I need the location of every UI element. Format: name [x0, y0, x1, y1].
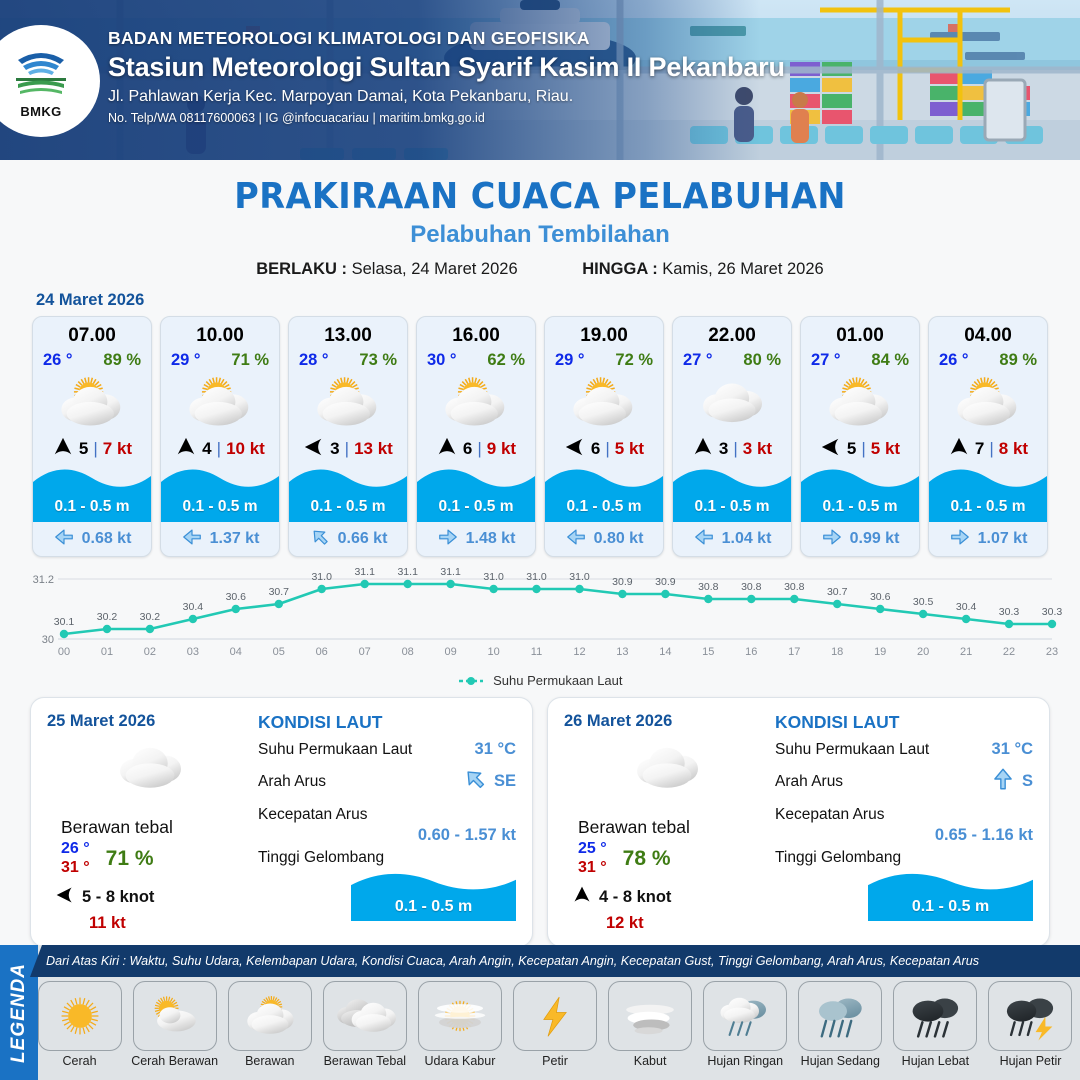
card-wind-arrow	[948, 436, 970, 463]
card-wave: 0.1 - 0.5 m	[161, 464, 279, 522]
daily-condition: Berawan tebal	[47, 817, 252, 838]
card-wind-arrow	[692, 436, 714, 463]
svg-text:23: 23	[1046, 646, 1058, 658]
svg-text:30.7: 30.7	[269, 586, 290, 598]
valid-until: HINGGA : Kamis, 26 Maret 2026	[582, 260, 823, 279]
card-humidity: 73 %	[359, 351, 397, 370]
daily-temps: 26 ° 31 ° 71 %	[47, 840, 252, 877]
partly-cloudy-glyph	[177, 373, 263, 433]
wind-direction-arrow	[572, 885, 592, 905]
card-current: 1.07 kt	[929, 522, 1047, 556]
legend-item-label: Berawan	[245, 1054, 294, 1068]
card-wave: 0.1 - 0.5 m	[33, 464, 151, 522]
wave-height-value: 0.1 - 0.5 m	[868, 898, 1033, 916]
daily-panel: 26 Maret 2026 Berawan tebal 25 ° 31 ° 78…	[547, 697, 1050, 947]
card-gust: 9 kt	[487, 439, 516, 459]
wind-direction-arrow	[948, 436, 970, 458]
card-wave-value: 0.1 - 0.5 m	[417, 498, 535, 516]
svg-text:10: 10	[487, 646, 499, 658]
wave-height-box: 0.1 - 0.5 m	[868, 869, 1033, 921]
svg-text:30.8: 30.8	[784, 581, 805, 593]
svg-text:30.9: 30.9	[655, 576, 676, 588]
daily-temp-min: 25 °	[578, 840, 607, 858]
daily-temp-max: 31 °	[61, 859, 90, 877]
svg-text:30.6: 30.6	[226, 591, 247, 603]
card-temperature: 30 °	[427, 351, 457, 370]
daily-wind: 4 - 8 knot	[564, 885, 769, 910]
legend-item-label: Cerah	[63, 1054, 97, 1068]
daily-temp-max: 31 °	[578, 859, 607, 877]
partly-cloudy-glyph	[49, 373, 135, 433]
card-wind-separator: |	[861, 439, 865, 459]
hourly-forecast-row: 07.00 26 ° 89 % 5 | 7 kt 0.1 - 0.5 m	[0, 316, 1080, 557]
bmkg-logo-text: BMKG	[20, 104, 61, 119]
current-direction-arrow	[437, 526, 459, 548]
sea-conditions-title: KONDISI LAUT	[775, 712, 1033, 733]
card-current-arrow	[821, 526, 843, 553]
svg-text:30.3: 30.3	[999, 606, 1020, 618]
card-current: 1.37 kt	[161, 522, 279, 556]
wind-direction-arrow	[692, 436, 714, 458]
daily-temps: 25 ° 31 ° 78 %	[564, 840, 769, 877]
svg-text:18: 18	[831, 646, 843, 658]
card-current-arrow	[693, 526, 715, 553]
sst-chart: 31.23030.10030.20130.20230.40330.60430.7…	[16, 567, 1064, 667]
fog-icon	[608, 981, 692, 1051]
legend-items: Cerah Cerah Berawan Berawan	[34, 981, 1076, 1068]
card-wind: 3 | 3 kt	[673, 434, 791, 464]
svg-text:31.1: 31.1	[397, 567, 418, 578]
legend-tab-label: LEGENDA	[8, 963, 30, 1063]
card-wind-arrow	[52, 436, 74, 463]
svg-text:30.1: 30.1	[54, 616, 75, 628]
card-temperature: 26 °	[43, 351, 73, 370]
card-weather-icon	[289, 372, 407, 434]
card-current-speed: 1.07 kt	[978, 530, 1028, 548]
svg-text:06: 06	[316, 646, 328, 658]
current-direction-arrow	[53, 526, 75, 548]
card-wind-speed: 7	[975, 439, 984, 459]
sunny-cloudy-icon-glyph	[140, 988, 210, 1044]
card-wave: 0.1 - 0.5 m	[417, 464, 535, 522]
card-wind-speed: 5	[847, 439, 856, 459]
hourly-card: 04.00 26 ° 89 % 7 | 8 kt 0.1 - 0.5 m	[928, 316, 1048, 557]
title-block: PRAKIRAAN CUACA PELABUHAN Pelabuhan Temb…	[0, 176, 1080, 279]
page-title: PRAKIRAAN CUACA PELABUHAN	[38, 176, 1042, 217]
card-time: 01.00	[801, 317, 919, 347]
page-header: BMKG BADAN METEOROLOGI KLIMATOLOGI DAN G…	[0, 0, 1080, 160]
cloudy-glyph	[104, 737, 196, 799]
chart-legend-swatch	[458, 674, 484, 689]
current-direction-value: SE	[494, 772, 516, 791]
card-wind: 5 | 5 kt	[801, 434, 919, 464]
hourly-card: 07.00 26 ° 89 % 5 | 7 kt 0.1 - 0.5 m	[32, 316, 152, 557]
card-wind: 3 | 13 kt	[289, 434, 407, 464]
hourly-card: 13.00 28 ° 73 % 3 | 13 kt 0.1 - 0.5 m	[288, 316, 408, 557]
sst-value: 31 °C	[992, 740, 1033, 759]
partly-cloudy-glyph	[433, 373, 519, 433]
legend-item-label: Kabut	[634, 1054, 667, 1068]
card-current-arrow	[565, 526, 587, 553]
card-current-speed: 1.37 kt	[210, 530, 260, 548]
card-current-arrow	[309, 526, 331, 553]
current-direction-arrow	[181, 526, 203, 548]
card-temperature: 28 °	[299, 351, 329, 370]
card-wind-separator: |	[605, 439, 609, 459]
card-wind-separator: |	[93, 439, 97, 459]
card-wave: 0.1 - 0.5 m	[801, 464, 919, 522]
sunny-cloudy-icon	[133, 981, 217, 1051]
legend-item: Berawan Tebal	[319, 981, 410, 1068]
card-humidity: 89 %	[103, 351, 141, 370]
legend-item: Cerah	[34, 981, 125, 1068]
daily-wind-range: 4 - 8 knot	[599, 888, 671, 907]
overcast-icon	[323, 981, 407, 1051]
card-wind: 4 | 10 kt	[161, 434, 279, 464]
svg-text:30.2: 30.2	[97, 611, 118, 623]
legend-item-label: Udara Kabur	[424, 1054, 495, 1068]
daily-wind-arrow	[55, 885, 75, 910]
card-wind: 6 | 5 kt	[545, 434, 663, 464]
current-direction-arrow	[949, 526, 971, 548]
wind-direction-arrow	[436, 436, 458, 458]
svg-text:30.8: 30.8	[741, 581, 762, 593]
haze-icon	[418, 981, 502, 1051]
daily-gust: 12 kt	[564, 914, 769, 933]
current-direction-arrow	[565, 526, 587, 548]
chart-legend-label: Suhu Permukaan Laut	[493, 673, 622, 688]
valid-until-label: HINGGA :	[582, 260, 657, 278]
card-current-speed: 0.99 kt	[850, 530, 900, 548]
card-current-speed: 1.48 kt	[466, 530, 516, 548]
light-rain-icon	[703, 981, 787, 1051]
legend-note: Dari Atas Kiri : Waktu, Suhu Udara, Kele…	[46, 954, 979, 968]
current-direction-arrow	[304, 521, 335, 552]
hourly-card: 16.00 30 ° 62 % 6 | 9 kt 0.1 - 0.5 m	[416, 316, 536, 557]
card-wind-arrow	[175, 436, 197, 463]
card-wind-separator: |	[345, 439, 349, 459]
legend-item: Cerah Berawan	[129, 981, 220, 1068]
card-gust: 13 kt	[354, 439, 393, 459]
current-speed-value: 0.60 - 1.57 kt	[258, 826, 516, 845]
daily-wind-range: 5 - 8 knot	[82, 888, 154, 907]
legend-item: Berawan	[224, 981, 315, 1068]
moderate-rain-icon-glyph	[805, 988, 875, 1044]
wind-direction-arrow	[55, 885, 75, 905]
svg-text:30.9: 30.9	[612, 576, 633, 588]
card-weather-icon	[417, 372, 535, 434]
cloudy-glyph	[689, 373, 775, 433]
card-time: 19.00	[545, 317, 663, 347]
svg-text:05: 05	[273, 646, 285, 658]
sst-value: 31 °C	[475, 740, 516, 759]
thunderstorm-icon-glyph	[995, 988, 1065, 1044]
card-current-speed: 0.80 kt	[594, 530, 644, 548]
current-direction-label: Arah Arus	[775, 773, 843, 791]
legend-item: Udara Kabur	[414, 981, 505, 1068]
daily-date: 25 Maret 2026	[47, 712, 252, 731]
card-wind-speed: 5	[79, 439, 88, 459]
card-current-speed: 0.68 kt	[82, 530, 132, 548]
hourly-card: 19.00 29 ° 72 % 6 | 5 kt 0.1 - 0.5 m	[544, 316, 664, 557]
card-current: 0.66 kt	[289, 522, 407, 556]
legend-section: LEGENDA Dari Atas Kiri : Waktu, Suhu Uda…	[0, 945, 1080, 1080]
card-humidity: 72 %	[615, 351, 653, 370]
wave-height-label: Tinggi Gelombang	[258, 849, 384, 867]
svg-text:31.1: 31.1	[354, 567, 375, 578]
light-rain-icon-glyph	[710, 988, 780, 1044]
valid-from-label: BERLAKU :	[256, 260, 347, 278]
card-weather-icon	[161, 372, 279, 434]
card-humidity: 71 %	[231, 351, 269, 370]
current-direction-arrow-wrap	[990, 766, 1016, 797]
legend-item: Hujan Petir	[985, 981, 1076, 1068]
sea-conditions: KONDISI LAUT Suhu Permukaan Laut 31 °C A…	[769, 712, 1033, 932]
partly-cloudy-glyph	[817, 373, 903, 433]
card-wind-speed: 4	[202, 439, 211, 459]
legend-item: Petir	[509, 981, 600, 1068]
card-wind-separator: |	[989, 439, 993, 459]
svg-text:11: 11	[531, 646, 542, 658]
card-temperature: 29 °	[555, 351, 585, 370]
svg-text:17: 17	[788, 646, 800, 658]
daily-panel: 25 Maret 2026 Berawan tebal 26 ° 31 ° 71…	[30, 697, 533, 947]
card-wind-separator: |	[733, 439, 737, 459]
card-gust: 5 kt	[615, 439, 644, 459]
legend-item-label: Berawan Tebal	[324, 1054, 406, 1068]
card-wind-speed: 6	[463, 439, 472, 459]
svg-text:07: 07	[359, 646, 371, 658]
partly-cloudy-glyph	[561, 373, 647, 433]
card-wind-arrow	[303, 436, 325, 463]
current-direction-arrow	[990, 766, 1016, 792]
daily-date: 26 Maret 2026	[564, 712, 769, 731]
legend-item: Hujan Lebat	[890, 981, 981, 1068]
sea-conditions: KONDISI LAUT Suhu Permukaan Laut 31 °C A…	[252, 712, 516, 932]
svg-text:31.1: 31.1	[440, 567, 461, 578]
station-name: Stasiun Meteorologi Sultan Syarif Kasim …	[108, 52, 785, 83]
legend-item-label: Petir	[542, 1054, 568, 1068]
card-weather-icon	[801, 372, 919, 434]
card-humidity: 84 %	[871, 351, 909, 370]
daily-wind-arrow	[572, 885, 592, 910]
heavy-rain-icon-glyph	[900, 988, 970, 1044]
svg-text:13: 13	[616, 646, 628, 658]
card-time: 07.00	[33, 317, 151, 347]
daily-temp-min: 26 °	[61, 840, 90, 858]
chart-legend: Suhu Permukaan Laut	[0, 673, 1080, 689]
lightning-icon	[513, 981, 597, 1051]
wave-height-value: 0.1 - 0.5 m	[351, 898, 516, 916]
current-direction-value-group: SE	[462, 766, 516, 797]
svg-text:30.7: 30.7	[827, 586, 848, 598]
svg-text:31.2: 31.2	[33, 574, 54, 586]
svg-text:16: 16	[745, 646, 757, 658]
card-temperature: 26 °	[939, 351, 969, 370]
card-humidity: 89 %	[999, 351, 1037, 370]
current-speed-label: Kecepatan Arus	[775, 806, 884, 824]
fog-icon-glyph	[615, 988, 685, 1044]
svg-text:21: 21	[960, 646, 972, 658]
legend-item: Hujan Sedang	[795, 981, 886, 1068]
card-gust: 3 kt	[743, 439, 772, 459]
svg-text:22: 22	[1003, 646, 1015, 658]
card-wind: 6 | 9 kt	[417, 434, 535, 464]
card-time: 13.00	[289, 317, 407, 347]
current-direction-arrow	[693, 526, 715, 548]
current-speed-value: 0.65 - 1.16 kt	[775, 826, 1033, 845]
card-humidity: 62 %	[487, 351, 525, 370]
legend-item-label: Cerah Berawan	[131, 1054, 218, 1068]
card-wave: 0.1 - 0.5 m	[289, 464, 407, 522]
legend-item: Kabut	[605, 981, 696, 1068]
sea-conditions-title: KONDISI LAUT	[258, 712, 516, 733]
wind-direction-arrow	[564, 436, 586, 458]
svg-text:30.3: 30.3	[1042, 606, 1063, 618]
card-temperature: 27 °	[683, 351, 713, 370]
card-gust: 8 kt	[999, 439, 1028, 459]
bmkg-logo-mark	[10, 44, 72, 102]
wind-direction-arrow	[175, 436, 197, 458]
svg-text:30: 30	[42, 634, 54, 646]
card-wind-arrow	[564, 436, 586, 463]
legend-tab: LEGENDA	[0, 945, 38, 1080]
card-wind-arrow	[820, 436, 842, 463]
svg-text:03: 03	[187, 646, 199, 658]
legend-item-label: Hujan Lebat	[902, 1054, 969, 1068]
daily-wind: 5 - 8 knot	[47, 885, 252, 910]
hourly-card: 22.00 27 ° 80 % 3 | 3 kt 0.1 - 0.5 m	[672, 316, 792, 557]
hourly-card: 01.00 27 ° 84 % 5 | 5 kt 0.1 - 0.5 m	[800, 316, 920, 557]
daily-forecast-panels: 25 Maret 2026 Berawan tebal 26 ° 31 ° 71…	[0, 689, 1080, 947]
partly-cloudy-glyph	[305, 373, 391, 433]
wave-height-label: Tinggi Gelombang	[775, 849, 901, 867]
svg-text:19: 19	[874, 646, 886, 658]
svg-text:31.0: 31.0	[483, 571, 504, 583]
valid-from-value: Selasa, 24 Maret 2026	[352, 260, 518, 278]
card-weather-icon	[929, 372, 1047, 434]
svg-text:14: 14	[659, 646, 671, 658]
sst-label: Suhu Permukaan Laut	[258, 741, 412, 759]
current-direction-arrow-wrap	[462, 766, 488, 797]
legend-note-bar: Dari Atas Kiri : Waktu, Suhu Udara, Kele…	[30, 945, 1080, 977]
svg-text:00: 00	[58, 646, 70, 658]
daily-humidity: 71 %	[106, 847, 154, 871]
card-current-speed: 1.04 kt	[722, 530, 772, 548]
svg-text:30.6: 30.6	[870, 591, 891, 603]
daily-condition: Berawan tebal	[564, 817, 769, 838]
daily-gust: 11 kt	[47, 914, 252, 933]
svg-text:20: 20	[917, 646, 929, 658]
card-wave-value: 0.1 - 0.5 m	[33, 498, 151, 516]
validity-row: BERLAKU : Selasa, 24 Maret 2026 HINGGA :…	[0, 260, 1080, 279]
svg-text:02: 02	[144, 646, 156, 658]
svg-text:09: 09	[444, 646, 456, 658]
card-temperature: 27 °	[811, 351, 841, 370]
legend-item: Hujan Ringan	[700, 981, 791, 1068]
current-direction-value-group: S	[990, 766, 1033, 797]
card-current: 0.99 kt	[801, 522, 919, 556]
card-weather-icon	[33, 372, 151, 434]
card-time: 22.00	[673, 317, 791, 347]
card-wave-value: 0.1 - 0.5 m	[289, 498, 407, 516]
card-wave-value: 0.1 - 0.5 m	[929, 498, 1047, 516]
haze-icon-glyph	[425, 988, 495, 1044]
legend-item-label: Hujan Ringan	[707, 1054, 783, 1068]
card-gust: 5 kt	[871, 439, 900, 459]
card-weather-icon	[545, 372, 663, 434]
card-current-speed: 0.66 kt	[338, 530, 388, 548]
svg-text:12: 12	[573, 646, 585, 658]
sst-label: Suhu Permukaan Laut	[775, 741, 929, 759]
cloudy-sun-icon	[228, 981, 312, 1051]
card-wind-separator: |	[477, 439, 481, 459]
card-wave-value: 0.1 - 0.5 m	[545, 498, 663, 516]
svg-text:31.0: 31.0	[311, 571, 332, 583]
daily-weather-icon	[564, 737, 769, 799]
heavy-rain-icon	[893, 981, 977, 1051]
thunderstorm-icon	[988, 981, 1072, 1051]
agency-name: BADAN METEOROLOGI KLIMATOLOGI DAN GEOFIS…	[108, 28, 785, 49]
card-wind-separator: |	[217, 439, 221, 459]
card-gust: 7 kt	[103, 439, 132, 459]
current-direction-label: Arah Arus	[258, 773, 326, 791]
card-current-arrow	[949, 526, 971, 553]
card-wave-value: 0.1 - 0.5 m	[673, 498, 791, 516]
station-address: Jl. Pahlawan Kerja Kec. Marpoyan Damai, …	[108, 88, 785, 106]
card-wind-speed: 3	[719, 439, 728, 459]
card-wind-speed: 3	[330, 439, 339, 459]
daily-summary: 26 Maret 2026 Berawan tebal 25 ° 31 ° 78…	[564, 712, 769, 932]
card-gust: 10 kt	[226, 439, 265, 459]
card-wave-value: 0.1 - 0.5 m	[161, 498, 279, 516]
valid-until-value: Kamis, 26 Maret 2026	[662, 260, 823, 278]
card-wave: 0.1 - 0.5 m	[929, 464, 1047, 522]
svg-text:30.2: 30.2	[140, 611, 161, 623]
card-wave: 0.1 - 0.5 m	[545, 464, 663, 522]
card-current: 0.80 kt	[545, 522, 663, 556]
valid-from: BERLAKU : Selasa, 24 Maret 2026	[256, 260, 517, 279]
svg-text:08: 08	[402, 646, 414, 658]
cloudy-glyph	[621, 737, 713, 799]
legend-item-label: Hujan Petir	[1000, 1054, 1062, 1068]
svg-text:30.4: 30.4	[956, 601, 977, 613]
daily-summary: 25 Maret 2026 Berawan tebal 26 ° 31 ° 71…	[47, 712, 252, 932]
wind-direction-arrow	[52, 436, 74, 458]
daily-weather-icon	[47, 737, 252, 799]
legend-item-label: Hujan Sedang	[801, 1054, 880, 1068]
svg-text:31.0: 31.0	[569, 571, 590, 583]
wave-height-box: 0.1 - 0.5 m	[351, 869, 516, 921]
card-current-arrow	[181, 526, 203, 553]
card-wave: 0.1 - 0.5 m	[673, 464, 791, 522]
page-subtitle: Pelabuhan Tembilahan	[0, 221, 1080, 249]
current-direction-value: S	[1022, 772, 1033, 791]
card-current-arrow	[437, 526, 459, 553]
svg-text:30.4: 30.4	[183, 601, 204, 613]
current-direction-arrow	[457, 761, 494, 798]
current-speed-label: Kecepatan Arus	[258, 806, 367, 824]
card-wave-value: 0.1 - 0.5 m	[801, 498, 919, 516]
wind-direction-arrow	[820, 436, 842, 458]
card-temperature: 29 °	[171, 351, 201, 370]
lightning-icon-glyph	[520, 988, 590, 1044]
svg-text:30.5: 30.5	[913, 596, 934, 608]
svg-text:01: 01	[101, 646, 113, 658]
hourly-card: 10.00 29 ° 71 % 4 | 10 kt 0.1 - 0.5 m	[160, 316, 280, 557]
card-current-arrow	[53, 526, 75, 553]
sunny-icon-glyph	[45, 988, 115, 1044]
